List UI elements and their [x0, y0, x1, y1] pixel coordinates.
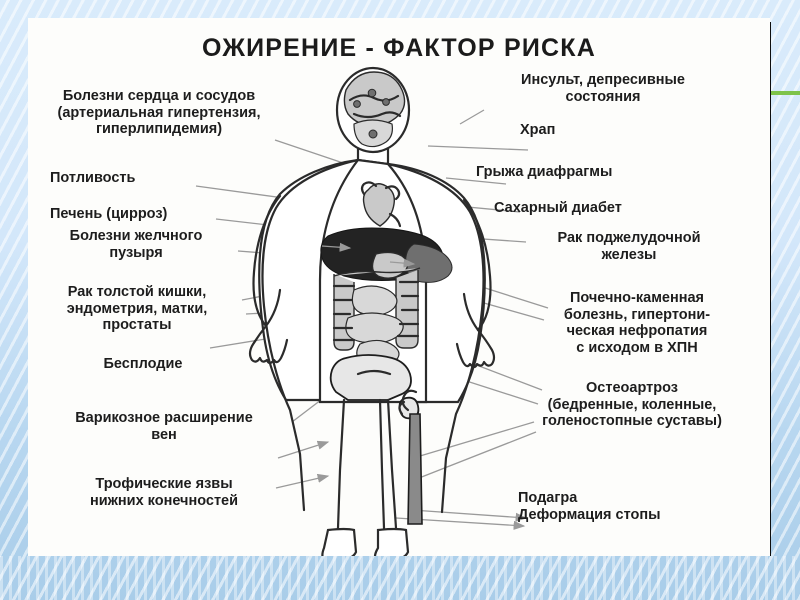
label-kidney-disease: Почечно-каменная болезнь, гипертони- чес…	[506, 290, 768, 356]
label-diaphragm-hernia: Грыжа диафрагмы	[476, 164, 746, 181]
label-colon-cancer: Рак толстой кишки, эндометрия, матки, пр…	[28, 284, 246, 334]
label-gout-foot: Подагра Деформация стопы	[518, 490, 768, 523]
label-liver-cirrhosis: Печень (цирроз)	[50, 206, 260, 223]
label-trophic-ulcers: Трофические язвы нижних конечностей	[36, 476, 292, 509]
label-osteoarthrosis: Остеоартроз (бедренные, коленные, голено…	[494, 380, 770, 430]
label-snoring: Храп	[520, 122, 720, 139]
label-stroke-depression: Инсульт, депресивные состояния	[458, 72, 748, 105]
label-pancreas-cancer: Рак поджелудочной железы	[494, 230, 764, 263]
label-gallbladder: Болезни желчного пузыря	[28, 228, 244, 261]
background-bottom-texture	[0, 556, 800, 600]
label-sweating: Потливость	[50, 170, 250, 187]
label-infertility: Бесплодие	[48, 356, 238, 373]
label-varicose-veins: Варикозное расширение вен	[28, 410, 300, 443]
slide-canvas: ОЖИРЕНИЕ - ФАКТОР РИСКА	[0, 0, 800, 600]
label-diabetes: Сахарный диабет	[494, 200, 754, 217]
label-heart-vessels: Болезни сердца и сосудов (артериальная г…	[34, 88, 284, 138]
content-card: ОЖИРЕНИЕ - ФАКТОР РИСКА	[28, 18, 770, 556]
